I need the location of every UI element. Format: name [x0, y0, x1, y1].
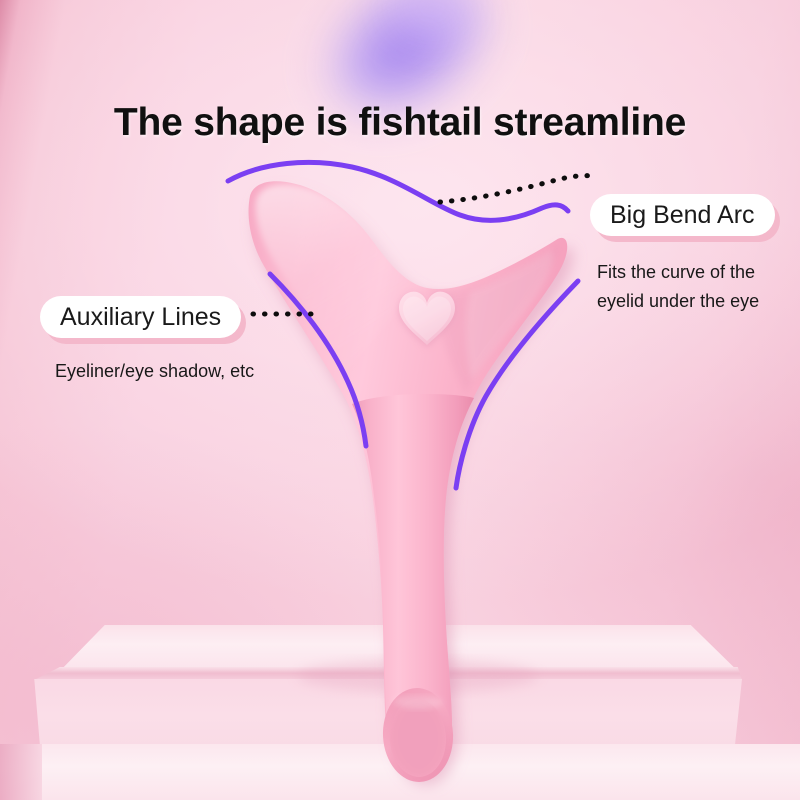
callout-caption-auxiliary-lines: Eyeliner/eye shadow, etc: [55, 357, 254, 386]
callout-pill-big-bend-arc: Big Bend Arc: [590, 194, 775, 236]
product-infographic-image: The shape is fishtail streamline Auxilia…: [0, 0, 800, 800]
page-title: The shape is fishtail streamline: [0, 101, 800, 145]
leader-to-big-bend-arc: [440, 176, 591, 202]
top-wave-curve: [228, 162, 568, 220]
right-contour-curve: [456, 281, 578, 488]
callout-pill-auxiliary-lines: Auxiliary Lines: [40, 296, 241, 338]
left-contour-curve: [270, 274, 366, 446]
callout-caption-big-bend-arc: Fits the curve of the eyelid under the e…: [597, 258, 797, 316]
